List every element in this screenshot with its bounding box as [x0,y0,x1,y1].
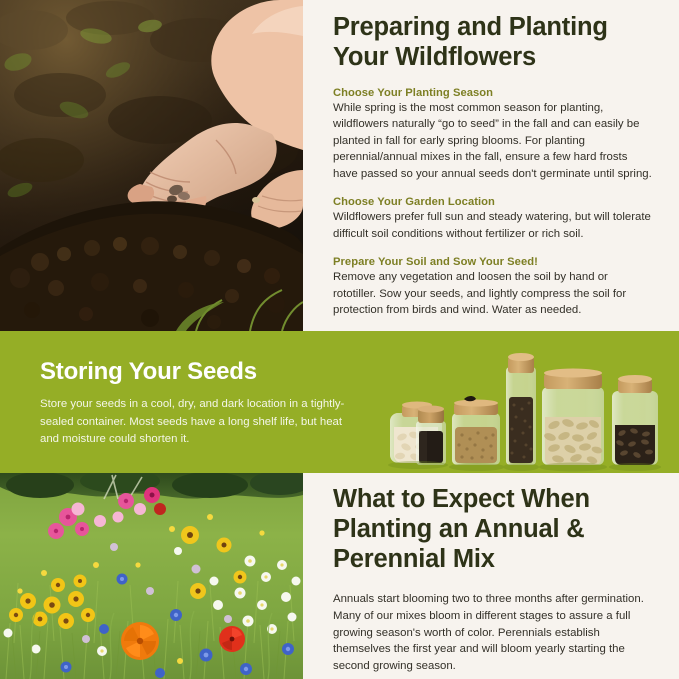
expect-body: Annuals start blooming two to three mont… [333,591,649,674]
subheading-garden-location: Choose Your Garden Location [333,196,652,208]
storing-heading: Storing Your Seeds [40,359,352,385]
wildflower-meadow-photo [0,473,303,679]
storing-body: Store your seeds in a cool, dry, and dar… [40,396,352,447]
expect-text-column: What to Expect When Planting an Annual &… [303,473,679,679]
section-what-to-expect: What to Expect When Planting an Annual &… [0,473,679,679]
subheading-prepare-soil: Prepare Your Soil and Sow Your Seed! [333,256,652,268]
section-preparing-planting: Preparing and Planting Your Wildflowers … [0,0,679,331]
page-title: Preparing and Planting Your Wildflowers [333,13,652,73]
body-prepare-soil: Remove any vegetation and loosen the soi… [333,269,652,319]
soil-planting-photo [0,0,303,331]
body-garden-location: Wildflowers prefer full sun and steady w… [333,209,652,242]
planting-text-column: Preparing and Planting Your Wildflowers … [303,0,679,331]
subheading-planting-season: Choose Your Planting Season [333,87,652,99]
expect-heading: What to Expect When Planting an Annual &… [333,485,649,574]
section-storing-seeds: Storing Your Seeds Store your seeds in a… [0,331,679,473]
body-planting-season: While spring is the most common season f… [333,100,652,183]
seed-jars-photo [382,345,674,473]
storing-text-column: Storing Your Seeds Store your seeds in a… [40,359,352,448]
infographic-page: Preparing and Planting Your Wildflowers … [0,0,679,679]
